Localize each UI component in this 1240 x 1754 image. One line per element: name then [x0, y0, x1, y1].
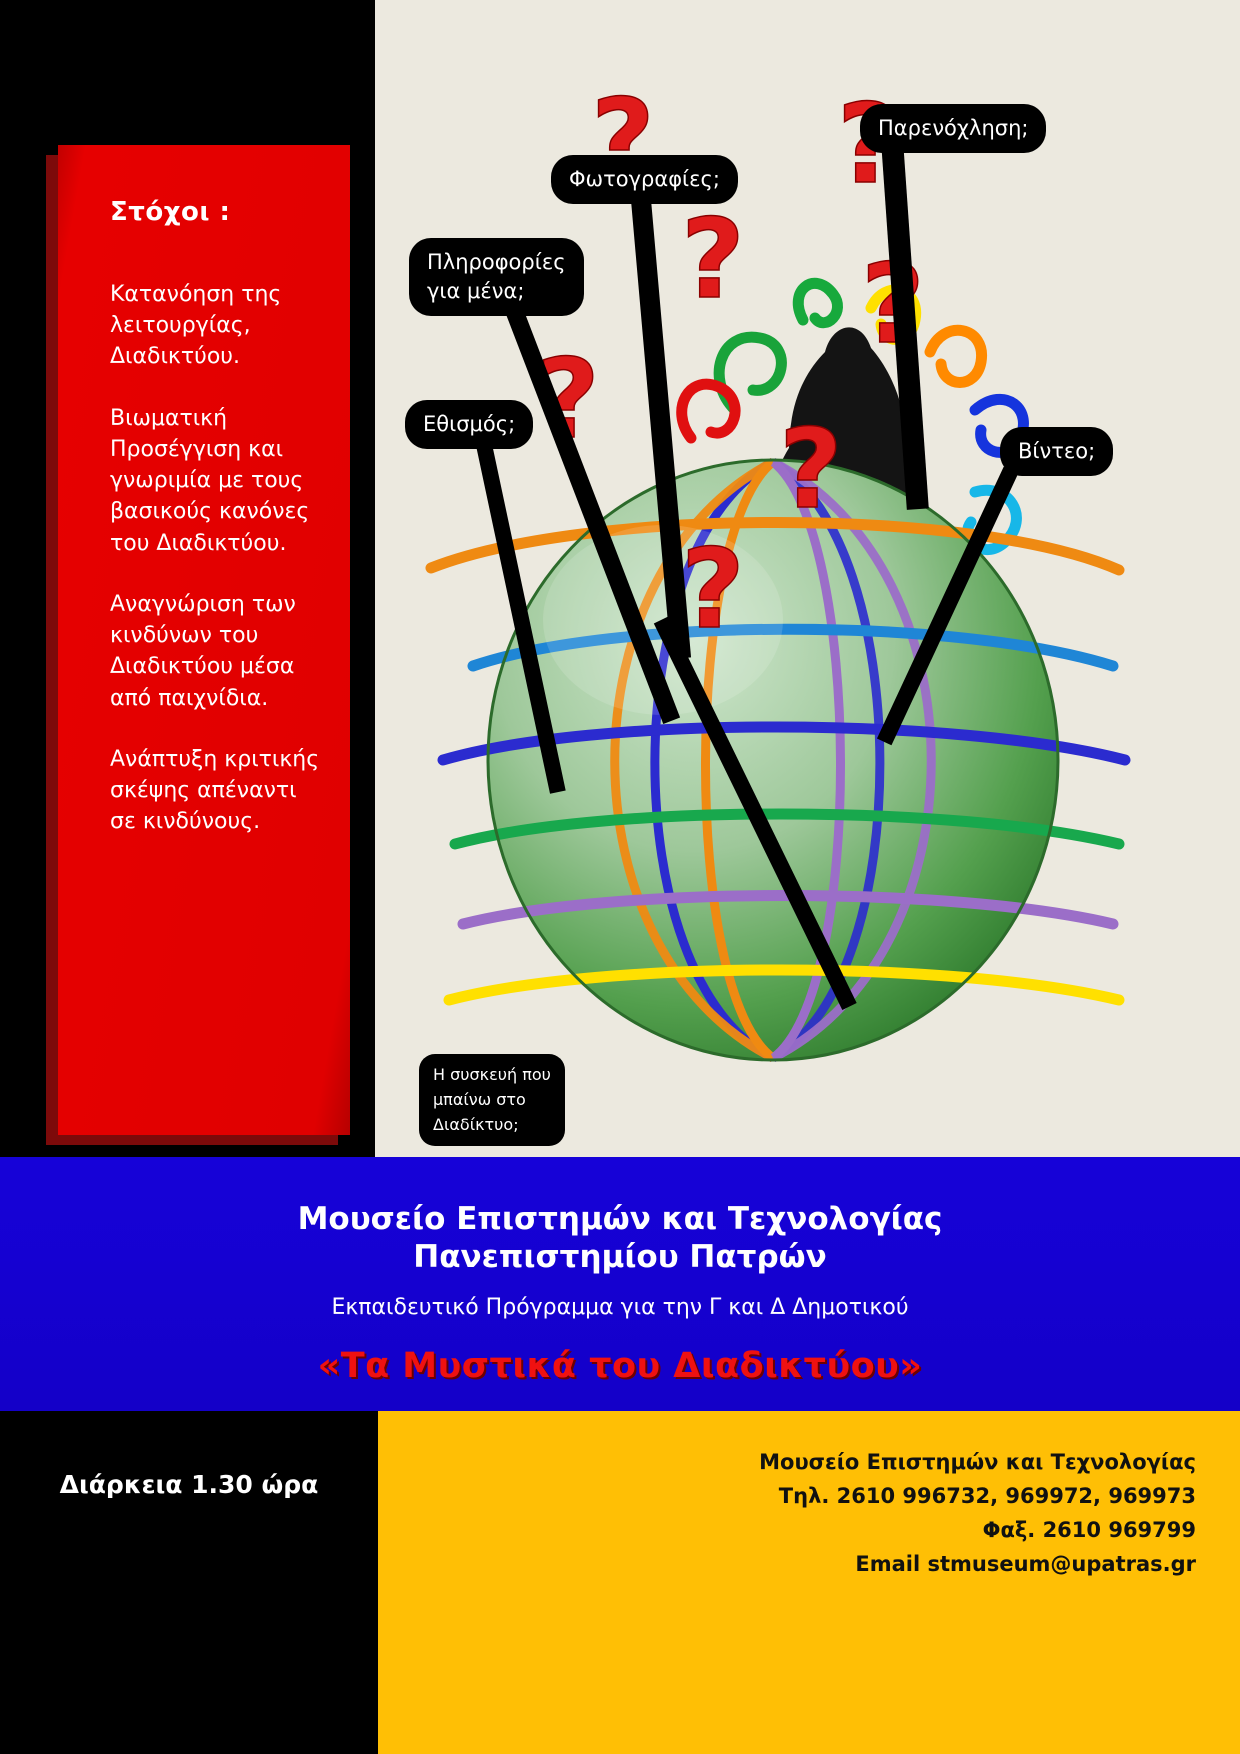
- contact-line: Μουσείο Επιστημών και Τεχνολογίας: [378, 1445, 1196, 1479]
- bubble-addiction[interactable]: Εθισμός;: [405, 400, 533, 449]
- svg-text:?: ?: [681, 205, 745, 315]
- duration-label: Διάρκεια 1.30 ώρα: [0, 1470, 378, 1499]
- contact-line: Τηλ. 2610 996732, 969972, 969973: [378, 1479, 1196, 1513]
- museum-title-line1: Μουσείο Επιστημών και Τεχνολογίας: [0, 1201, 1240, 1239]
- bubble-video[interactable]: Βίντεο;: [1000, 427, 1113, 476]
- bubble-info[interactable]: Πληροφορίες για μένα;: [409, 238, 584, 316]
- bubble-photos[interactable]: Φωτογραφίες;: [551, 155, 738, 204]
- question-mark-icon: ?: [675, 205, 749, 315]
- objective-item: Αναγνώριση των κινδύνων του Διαδικτύου μ…: [110, 589, 320, 714]
- program-title: «Τα Μυστικά του Διαδικτύου»: [0, 1346, 1240, 1386]
- museum-banner: Μουσείο Επιστημών και Τεχνολογίας Πανεπι…: [0, 1157, 1240, 1411]
- poster-root: ? ? ? ? ? ? ? Παρενόχληση; Φωτογραφίες; …: [0, 0, 1240, 1754]
- objective-item: Βιωματική Προσέγγιση και γνωριμία με του…: [110, 403, 320, 559]
- contact-line-email[interactable]: Email stmuseum@upatras.gr: [378, 1547, 1196, 1581]
- contact-block: Μουσείο Επιστημών και Τεχνολογίας Τηλ. 2…: [378, 1411, 1240, 1754]
- svg-text:?: ?: [681, 535, 745, 645]
- bubble-harassment[interactable]: Παρενόχληση;: [860, 104, 1046, 153]
- footer-black-block: [0, 1411, 378, 1754]
- artwork-panel: ? ? ? ? ? ? ?: [375, 0, 1240, 1157]
- bubble-device[interactable]: Η συσκευή που μπαίνω στο Διαδίκτυο;: [419, 1054, 565, 1146]
- objectives-heading: Στόχοι :: [110, 197, 320, 227]
- program-subtitle: Εκπαιδευτικό Πρόγραμμα για την Γ και Δ Δ…: [0, 1295, 1240, 1320]
- contact-line: Φαξ. 2610 969799: [378, 1513, 1196, 1547]
- objectives-card: Στόχοι : Κατανόηση της λειτουργίας, Διαδ…: [58, 145, 350, 1135]
- objective-item: Κατανόηση της λειτουργίας, Διαδικτύου.: [110, 279, 320, 373]
- objective-item: Ανάπτυξη κριτικής σκέψης απέναντι σε κιν…: [110, 744, 320, 838]
- svg-text:?: ?: [779, 415, 843, 525]
- question-mark-icon: ?: [773, 415, 847, 525]
- museum-title-line2: Πανεπιστημίου Πατρών: [0, 1239, 1240, 1277]
